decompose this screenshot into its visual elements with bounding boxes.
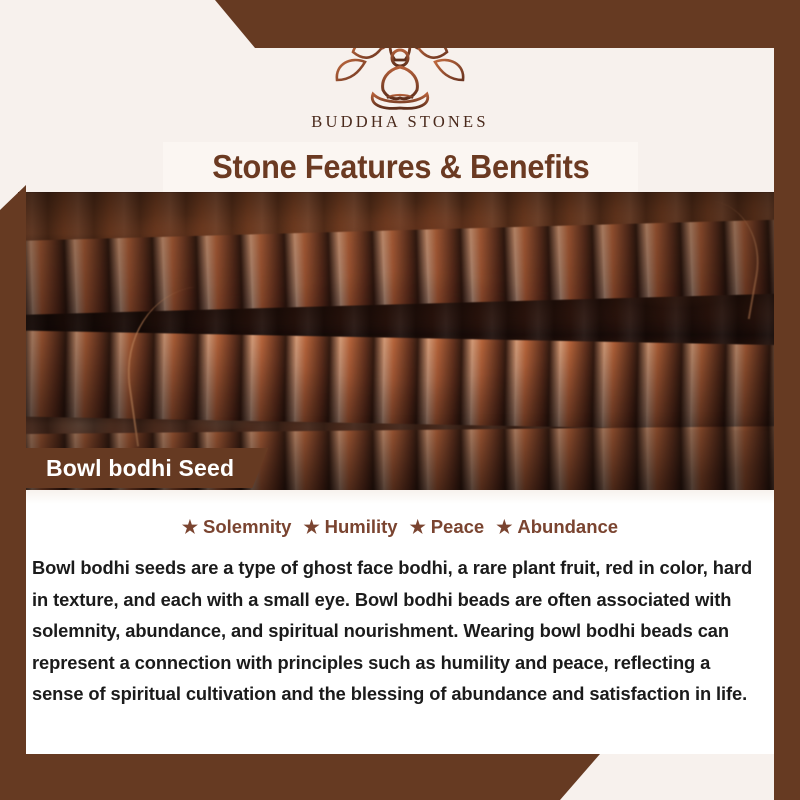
keyword-list: ★ Solemnity ★ Humility ★ Peace ★ Abundan… <box>18 516 782 538</box>
seed-name-text: Bowl bodhi Seed <box>46 455 234 482</box>
title-banner: Stone Features & Benefits <box>163 142 638 192</box>
panel-top-fade <box>18 490 782 504</box>
page-title: Stone Features & Benefits <box>212 148 589 186</box>
frame-right-band <box>774 0 800 800</box>
hero-product-photo <box>18 192 800 490</box>
brand-name: BUDDHA STONES <box>0 112 800 132</box>
star-icon: ★ <box>303 518 319 536</box>
keyword-label: Peace <box>431 516 485 538</box>
keyword-label: Abundance <box>517 516 618 538</box>
content-panel: ★ Solemnity ★ Humility ★ Peace ★ Abundan… <box>18 490 782 754</box>
photo-vignette <box>18 192 800 490</box>
keyword-item: ★ Solemnity <box>182 516 292 538</box>
keyword-item: ★ Abundance <box>496 516 618 538</box>
star-icon: ★ <box>410 518 426 536</box>
poster-canvas: BUDDHA STONES Stone Features & Benefits … <box>0 0 800 800</box>
keyword-label: Humility <box>325 516 398 538</box>
star-icon: ★ <box>496 518 512 536</box>
keyword-label: Solemnity <box>203 516 291 538</box>
seed-name-label: Bowl bodhi Seed <box>18 448 268 488</box>
keyword-item: ★ Peace <box>410 516 485 538</box>
keyword-item: ★ Humility <box>303 516 397 538</box>
description-paragraph: Bowl bodhi seeds are a type of ghost fac… <box>32 552 755 710</box>
star-icon: ★ <box>182 518 198 536</box>
